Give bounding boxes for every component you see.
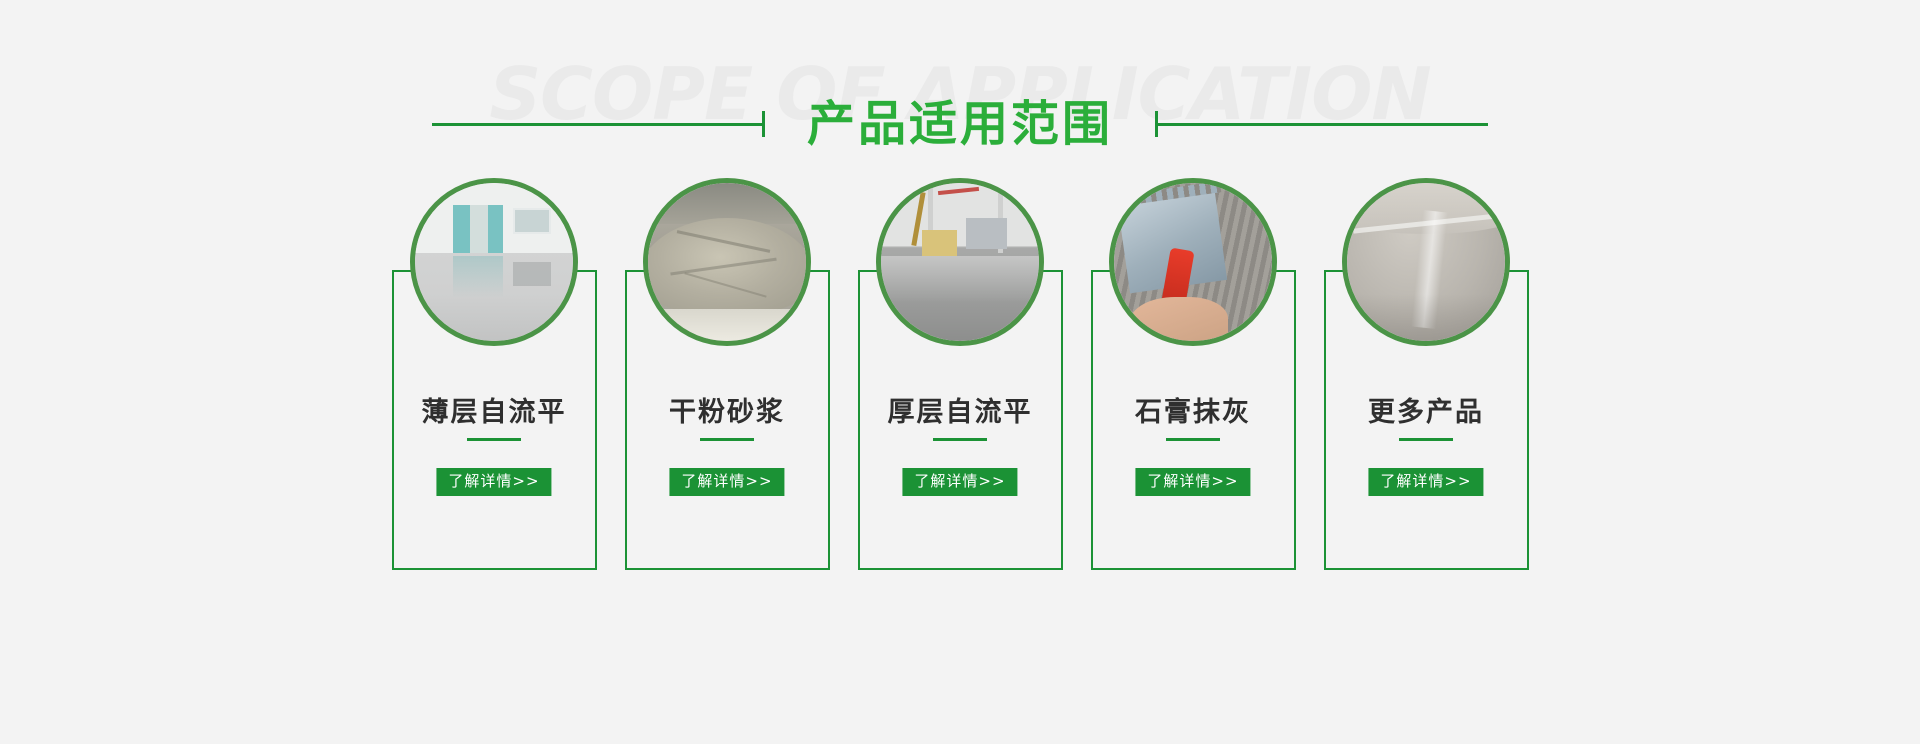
detail-button[interactable]: 了解详情>> [436, 468, 551, 496]
detail-button[interactable]: 了解详情>> [1368, 468, 1483, 496]
card-frame-bottom [1091, 568, 1296, 570]
product-card[interactable]: 石膏抹灰 了解详情>> [1091, 200, 1296, 570]
product-label: 更多产品 [1324, 390, 1529, 429]
label-underline [700, 438, 754, 441]
detail-button[interactable]: 了解详情>> [902, 468, 1017, 496]
product-thumbnail[interactable] [1109, 178, 1277, 346]
label-underline [1166, 438, 1220, 441]
detail-button[interactable]: 了解详情>> [1135, 468, 1250, 496]
product-label: 厚层自流平 [858, 390, 1063, 429]
page-title: 产品适用范围 [765, 100, 1155, 148]
product-thumbnail[interactable] [1342, 178, 1510, 346]
product-thumbnail[interactable] [643, 178, 811, 346]
label-underline [933, 438, 987, 441]
product-card[interactable]: 薄层自流平 了解详情>> [392, 200, 597, 570]
card-frame-bottom [858, 568, 1063, 570]
detail-button[interactable]: 了解详情>> [669, 468, 784, 496]
title-rule-right [1158, 123, 1488, 126]
card-frame-bottom [1324, 568, 1529, 570]
product-label: 薄层自流平 [392, 390, 597, 429]
card-frame-bottom [392, 568, 597, 570]
product-card[interactable]: 厚层自流平 了解详情>> [858, 200, 1063, 570]
title-row: 产品适用范围 [0, 100, 1920, 148]
label-underline [467, 438, 521, 441]
card-frame-bottom [625, 568, 830, 570]
product-thumbnail[interactable] [410, 178, 578, 346]
title-rule-left [432, 123, 762, 126]
product-card-list: 薄层自流平 了解详情>> 干粉砂浆 了解详情>> 厚 [0, 200, 1920, 620]
product-thumbnail[interactable] [876, 178, 1044, 346]
product-label: 干粉砂浆 [625, 390, 830, 429]
product-card[interactable]: 干粉砂浆 了解详情>> [625, 200, 830, 570]
section-header: SCOPE OF APPLICATION 产品适用范围 [0, 0, 1920, 200]
product-card[interactable]: 更多产品 了解详情>> [1324, 200, 1529, 570]
label-underline [1399, 438, 1453, 441]
product-label: 石膏抹灰 [1091, 390, 1296, 429]
